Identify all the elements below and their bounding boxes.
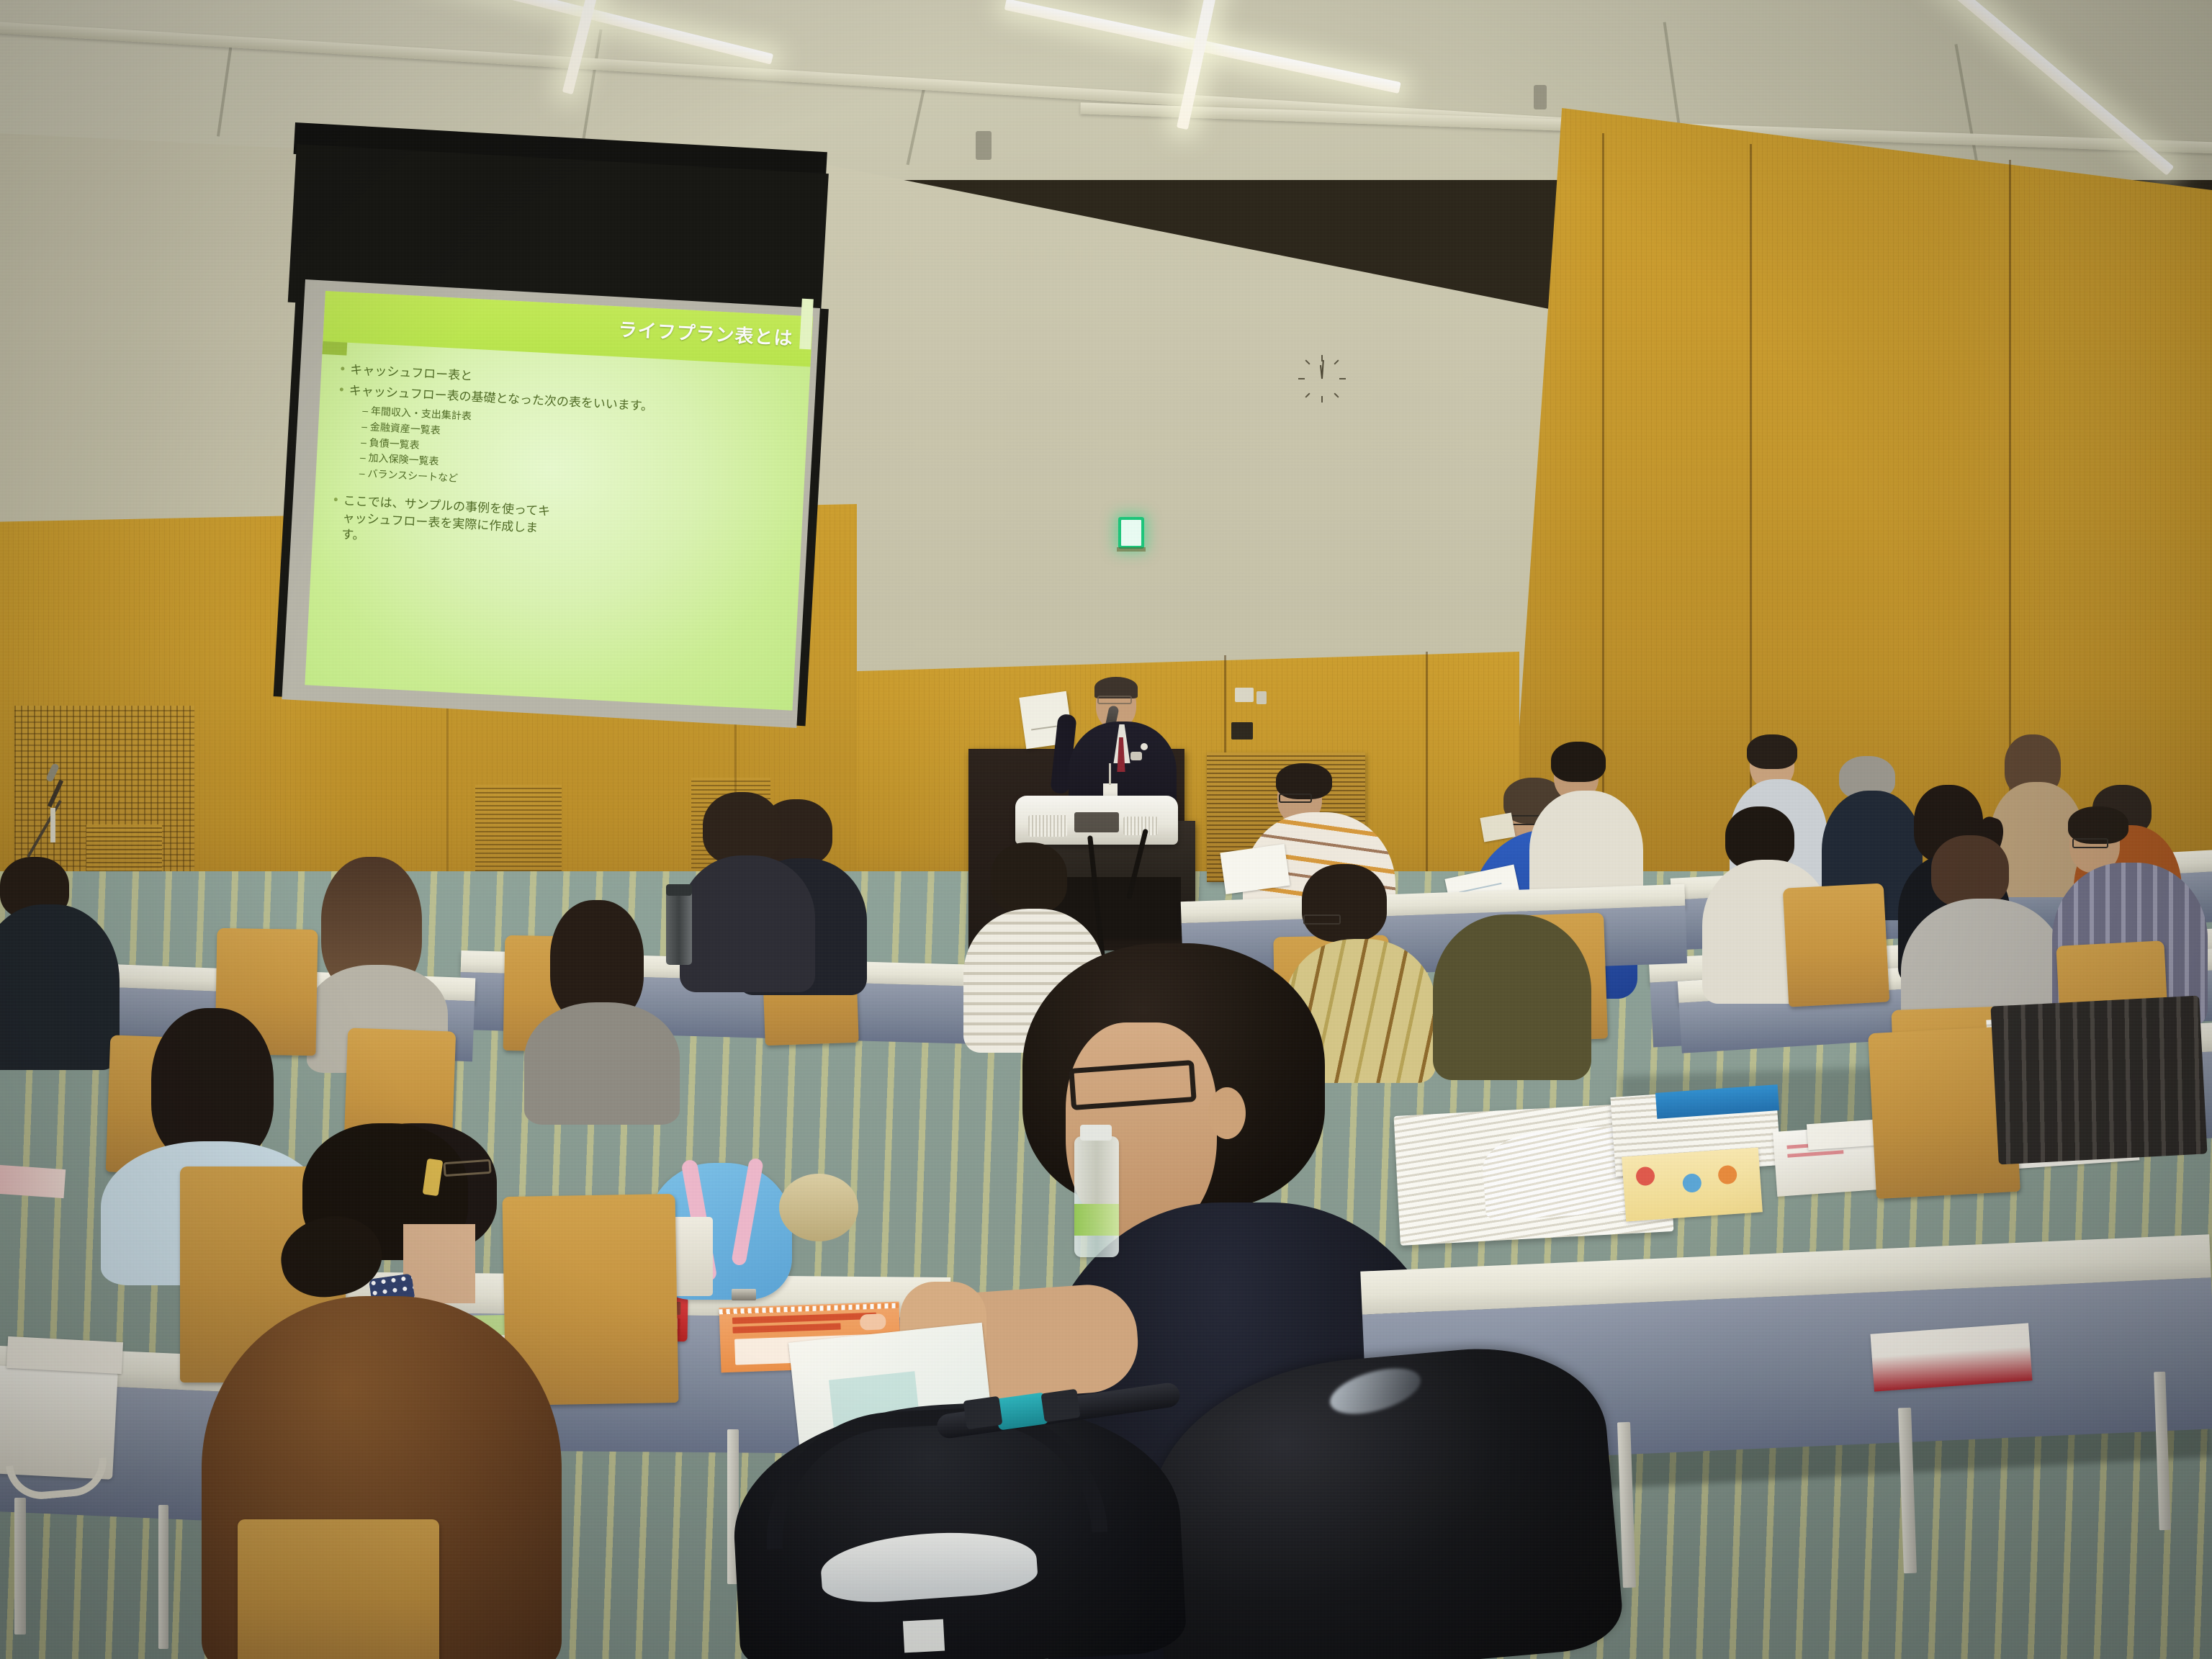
ceiling-speaker [1534,85,1547,109]
brochure-icon-red [1635,1166,1655,1187]
brochure-icon-blue [1682,1173,1702,1193]
binder-clip [732,1289,756,1300]
stacked-chairs [1990,996,2207,1165]
slide-header-notch [322,341,347,356]
chair[interactable] [238,1519,439,1659]
thermos-cap [666,884,692,896]
slide-closing-bullet: ここでは、サンプルの事例を使ってキャッシュフロー表を実際に作成します。 [341,492,559,554]
projector-ports [1074,812,1119,832]
hair [991,842,1067,913]
handout-seal [860,1313,886,1330]
glasses [1069,1060,1197,1110]
attendee-mid-back-pale [1527,742,1649,907]
ceiling-speaker [976,131,992,160]
wall-outlet-plate [1231,722,1253,739]
stroller-tag [903,1619,945,1653]
projector-vent [1028,815,1067,837]
exit-sign-shadow [1117,547,1146,552]
lapel-pin [1141,743,1148,750]
boom-microphone [22,763,115,857]
handout-headline [732,1323,840,1334]
paper-sheet [6,1336,123,1374]
glasses [1303,914,1341,925]
magazine-red-spread [1870,1323,2032,1391]
seminar-room-photo: ライフプラン表とは キャッシュフロー表と キャッシュフロー表の基礎となった次の表… [0,0,2212,1659]
bottle-label [1074,1204,1119,1236]
brochure-yellow[interactable] [1622,1147,1763,1221]
table-leg [14,1498,26,1635]
projected-slide: ライフプラン表とは キャッシュフロー表と キャッシュフロー表の基礎となった次の表… [305,291,813,711]
torso [680,855,815,992]
wall-clock [1296,353,1348,405]
wall-outlet-plate [1256,691,1267,704]
badge-lanyard [1109,763,1111,785]
hair [1931,835,2009,907]
brochure-text-line [1787,1150,1843,1157]
projector-vent [1123,817,1158,835]
handout-headline [732,1313,876,1324]
slide-bullet-list: キャッシュフロー表と キャッシュフロー表の基礎となった次の表をいいます。 年間収… [331,361,802,567]
water-bottle [1074,1136,1119,1257]
brochure-icon-orange [1717,1165,1737,1185]
held-card [1480,812,1515,842]
thermos [666,889,692,965]
glasses [2072,838,2108,848]
attendee-left-grey [518,900,684,1102]
wall-outlet-plate [1235,688,1254,702]
glasses [1279,793,1312,803]
straw-hat [779,1174,858,1241]
hair [703,792,781,864]
presenter-glasses [1097,696,1132,704]
hair [1747,734,1797,769]
hair [1551,742,1606,782]
pink-booklet [0,1164,66,1198]
glasses [443,1159,491,1177]
ear [1208,1087,1246,1139]
bottle-cap [1080,1125,1112,1141]
torso [524,1002,680,1125]
attendee-left-grey2 [677,792,821,979]
hair [1302,864,1387,942]
stroller-handle-clamp [1040,1389,1080,1423]
emergency-exit-sign [1118,517,1144,549]
chair[interactable] [1783,883,1889,1007]
stroller-handle-clamp [963,1396,1002,1430]
table-leg [158,1505,168,1649]
presenter-watch [1130,752,1142,760]
